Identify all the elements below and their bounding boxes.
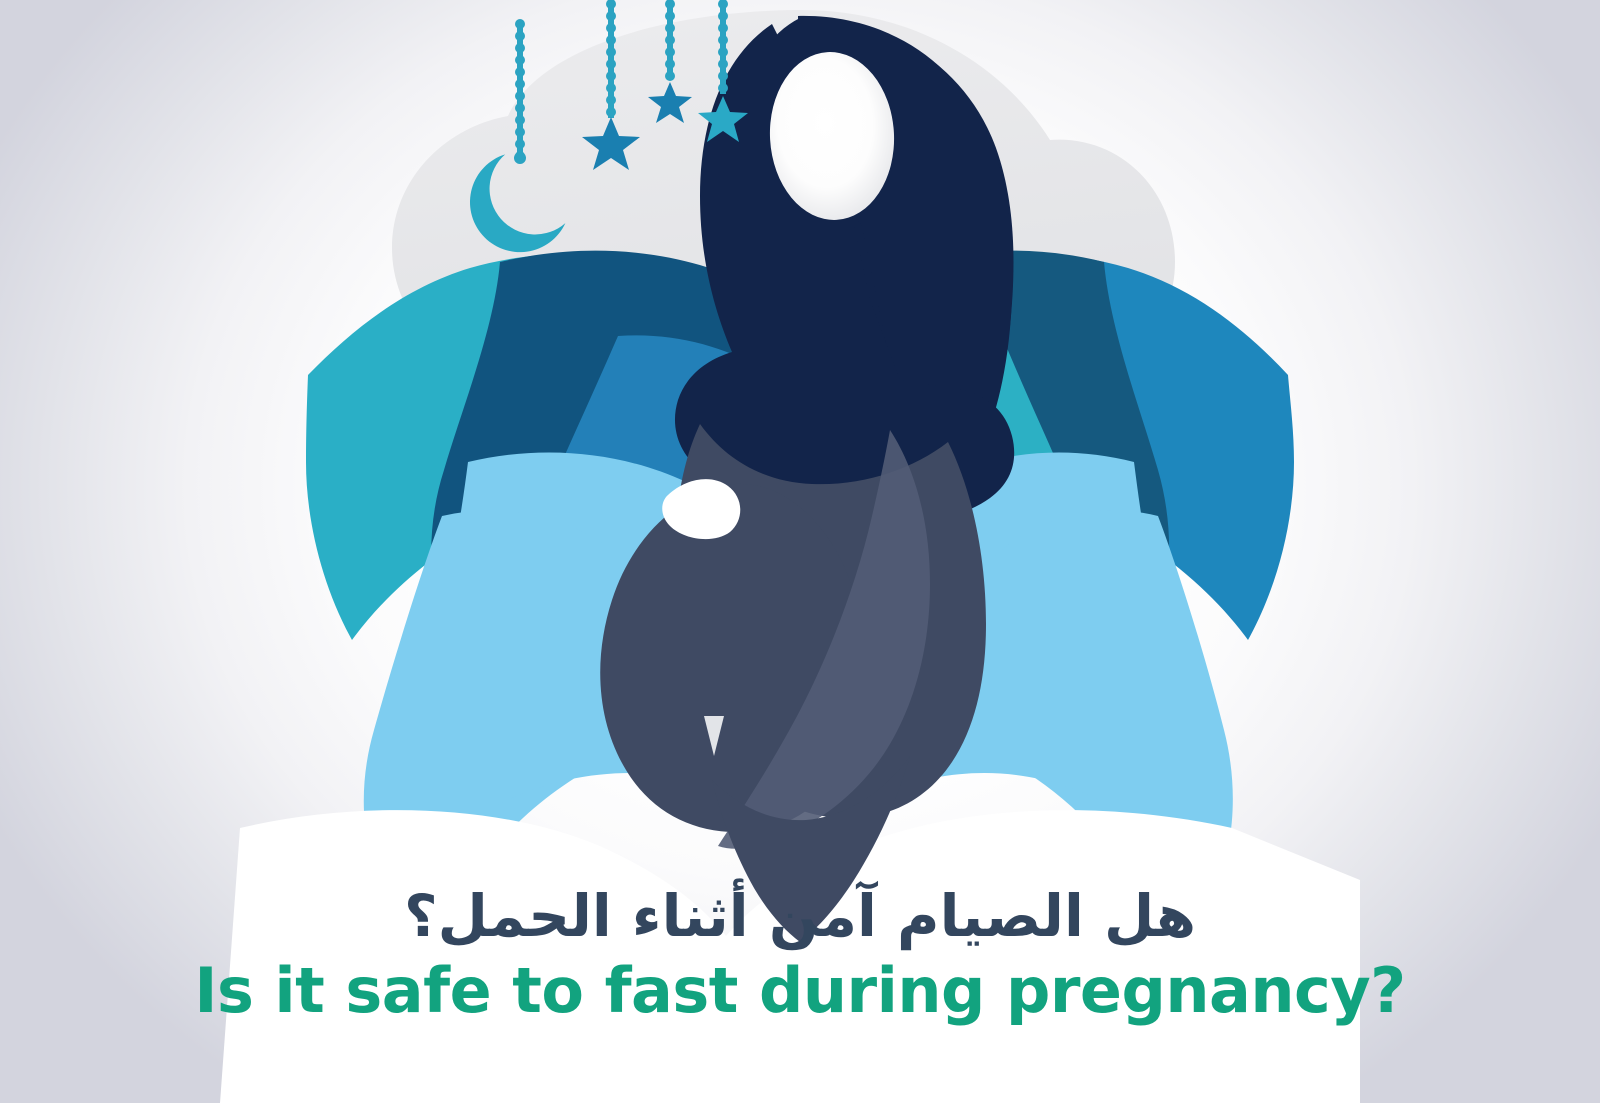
- caption-english: Is it safe to fast during pregnancy?: [0, 957, 1600, 1025]
- caption-block: هل الصيام آمن أثناء الحمل؟ Is it safe to…: [0, 882, 1600, 1025]
- poster-root: هل الصيام آمن أثناء الحمل؟ Is it safe to…: [0, 0, 1600, 1103]
- caption-arabic: هل الصيام آمن أثناء الحمل؟: [0, 882, 1600, 950]
